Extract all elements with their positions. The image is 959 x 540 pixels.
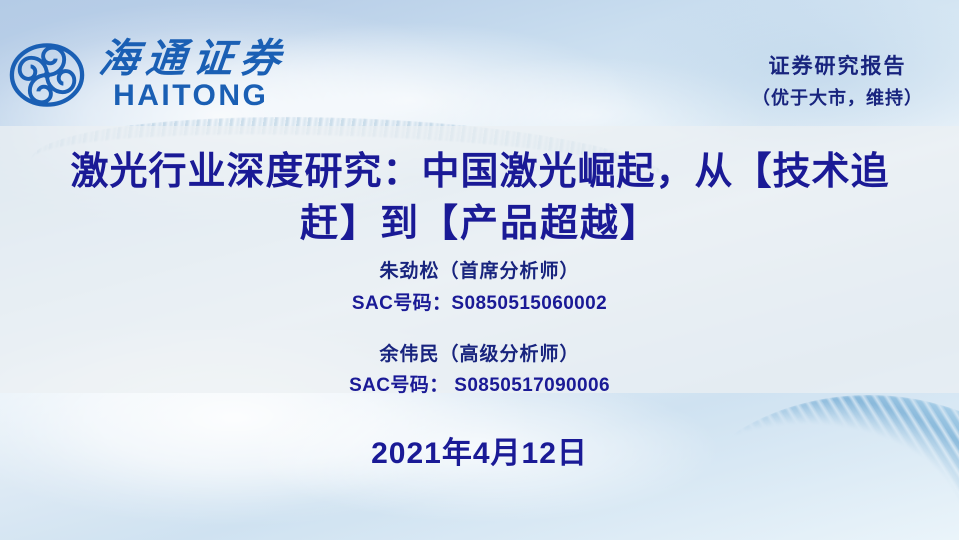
page-title: 激光行业深度研究：中国激光崛起，从【技术追 赶】到【产品超越】 bbox=[44, 146, 916, 251]
haitong-swirl-emblem-icon bbox=[8, 36, 86, 114]
report-date: 2021年4月12日 bbox=[0, 428, 959, 472]
report-cover-slide: 海通证券 HAITONG 证券研究报告 （优于大市，维持） 激光行业深度研究：中… bbox=[0, 0, 959, 540]
logo-chinese-name: 海通证券 bbox=[90, 39, 289, 79]
logo-english-name: HAITONG bbox=[111, 81, 269, 111]
author-name: 余伟民（高级分析师） bbox=[0, 341, 959, 370]
rating-label: （优于大市，维持） bbox=[752, 86, 923, 110]
logo-wordmark: 海通证券 HAITONG bbox=[92, 39, 287, 111]
author-entry-1: 朱劲松（首席分析师） SAC号码：S0850515060002 bbox=[0, 258, 959, 319]
author-sac-code: SAC号码：S0850515060002 bbox=[0, 289, 959, 319]
page-title-line-1: 激光行业深度研究：中国激光崛起，从【技术追 bbox=[44, 146, 916, 198]
page-title-line-2: 赶】到【产品超越】 bbox=[44, 198, 916, 250]
haitong-logo: 海通证券 HAITONG bbox=[8, 36, 287, 114]
author-name: 朱劲松（首席分析师） bbox=[0, 258, 959, 287]
author-sac-code: SAC号码： S0850517090006 bbox=[0, 371, 959, 401]
author-entry-2: 余伟民（高级分析师） SAC号码： S0850517090006 bbox=[0, 341, 959, 402]
report-type-label: 证券研究报告 bbox=[752, 52, 923, 80]
author-list: 朱劲松（首席分析师） SAC号码：S0850515060002 余伟民（高级分析… bbox=[0, 258, 959, 402]
report-header: 证券研究报告 （优于大市，维持） bbox=[752, 52, 923, 111]
